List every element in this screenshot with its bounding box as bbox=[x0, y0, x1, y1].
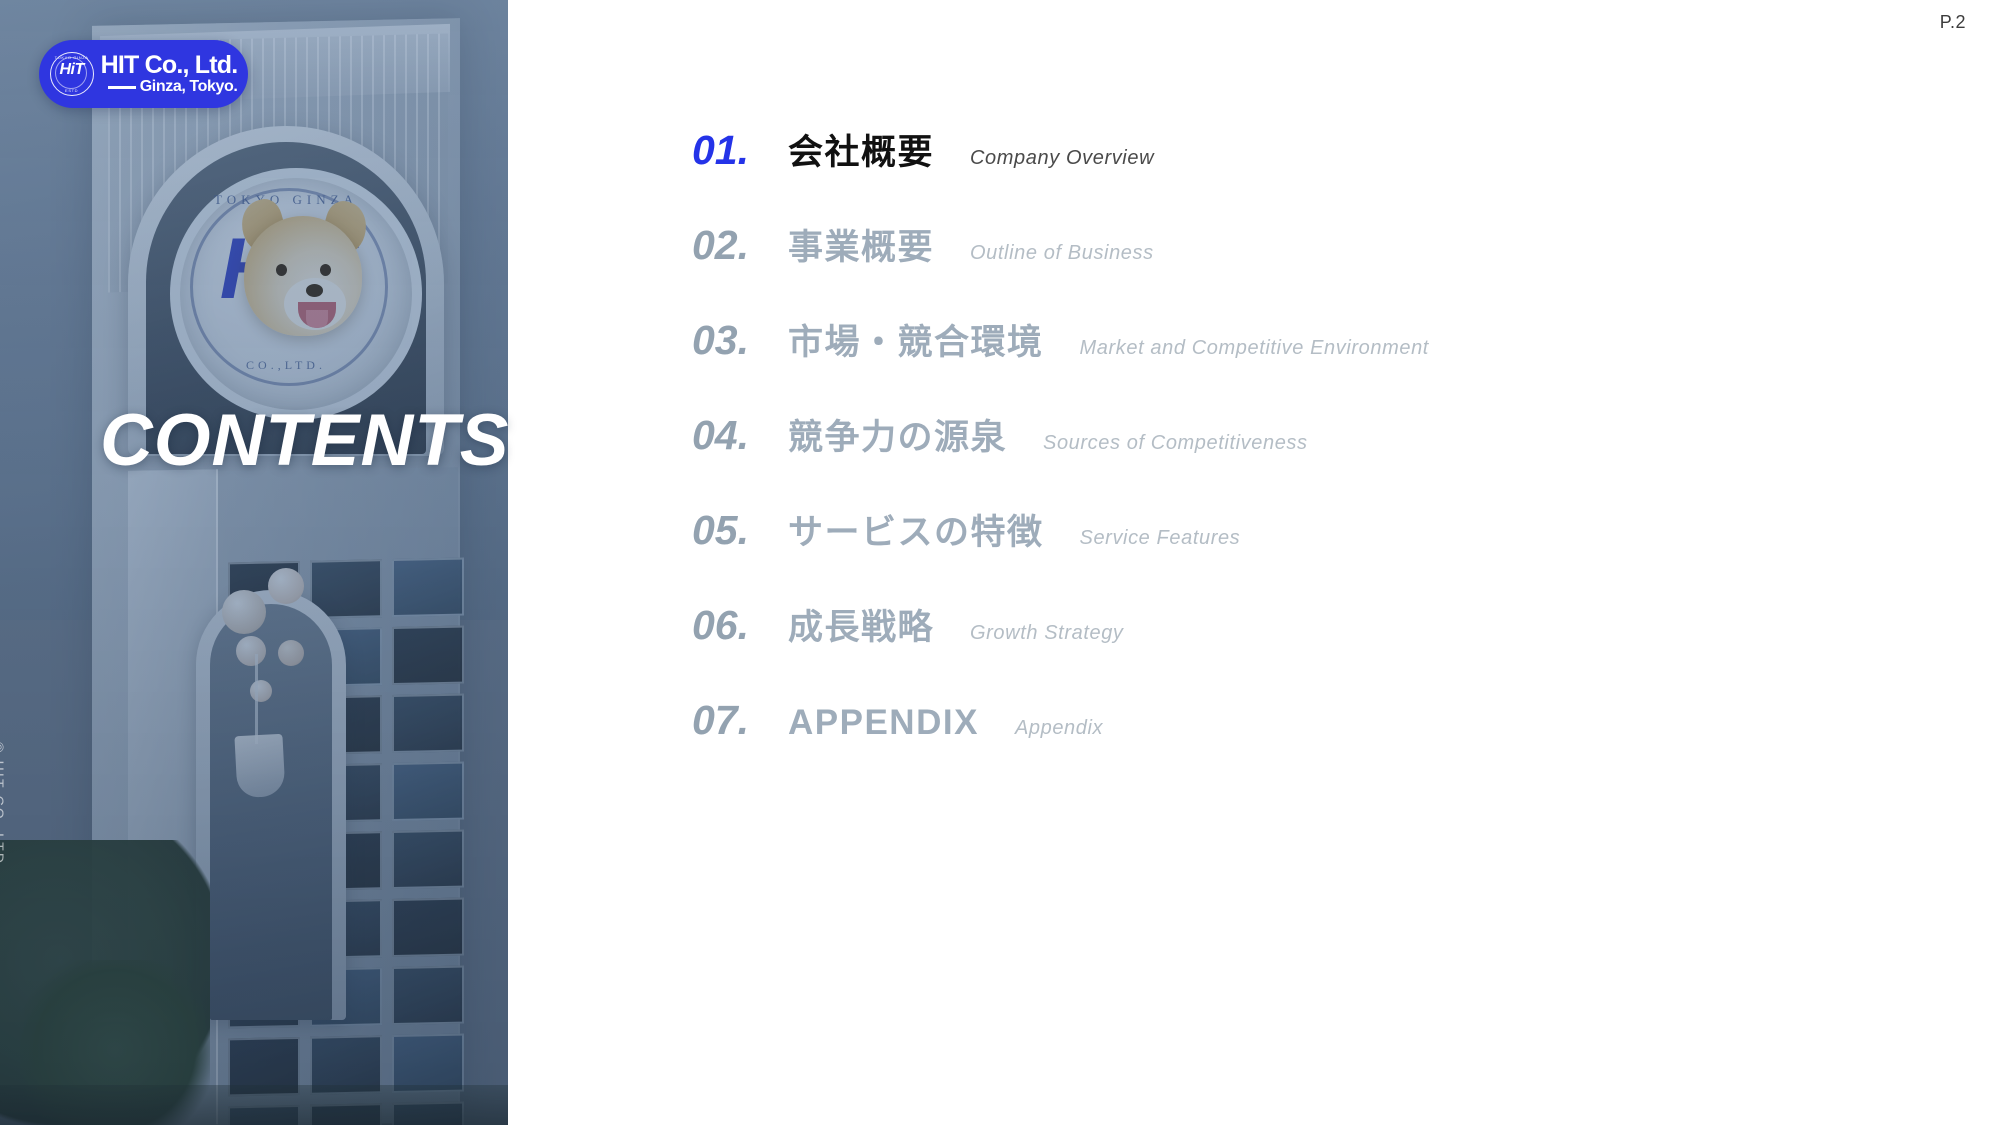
hero-photo-panel: TOKYO GINZA HiT CO.,LTD. bbox=[0, 0, 508, 1125]
toc-item-05[interactable]: 05. サービスの特徴 Service Features bbox=[692, 510, 1932, 605]
watermark-brand-name: HIT Co., Ltd. bbox=[1726, 1003, 1925, 1041]
toc-item-04[interactable]: 04. 競争力の源泉 Sources of Competitiveness bbox=[692, 415, 1932, 510]
toc-label-en: Outline of Business bbox=[970, 243, 1154, 263]
toc-label-en: Appendix bbox=[1015, 718, 1103, 738]
brand-tagline-row: Ginza, Tokyo. bbox=[101, 79, 238, 95]
watermark-tagline-row: Ginza, Tokyo. bbox=[1726, 1042, 1925, 1065]
toc-label-jp: APPENDIX bbox=[788, 705, 979, 740]
toc-item-07[interactable]: 07. APPENDIX Appendix bbox=[692, 700, 1932, 795]
toc-number: 03. bbox=[692, 320, 788, 361]
toc-label-jp: サービスの特徴 bbox=[788, 515, 1044, 550]
emblem-bottom-text: ESTD bbox=[51, 88, 93, 93]
toc-number: 02. bbox=[692, 225, 788, 266]
page-title: CONTENTS bbox=[100, 404, 510, 477]
toc-label-en: Sources of Competitiveness bbox=[1043, 433, 1308, 453]
watermark-tagline: Ginza, Tokyo. bbox=[1784, 1042, 1925, 1065]
toc-label-en: Market and Competitive Environment bbox=[1080, 338, 1429, 358]
emblem-initials: HiT bbox=[51, 62, 93, 78]
brand-name: HIT Co., Ltd. bbox=[101, 53, 238, 79]
toc-item-02[interactable]: 02. 事業概要 Outline of Business bbox=[692, 225, 1932, 320]
toc-item-03[interactable]: 03. 市場・競合環境 Market and Competitive Envir… bbox=[692, 320, 1932, 415]
toc-label-jp: 会社概要 bbox=[788, 135, 934, 170]
brand-rule-divider bbox=[108, 86, 136, 89]
brand-tagline: Ginza, Tokyo. bbox=[140, 79, 238, 95]
toc-number: 07. bbox=[692, 700, 788, 741]
toc-label-en: Service Features bbox=[1080, 528, 1241, 548]
toc-item-01[interactable]: 01. 会社概要 Company Overview bbox=[692, 130, 1932, 225]
watermark-emblem-icon: HiT bbox=[1648, 1000, 1716, 1068]
toc-label-jp: 成長戦略 bbox=[788, 610, 934, 645]
page-number: P.2 bbox=[1940, 12, 1966, 33]
brand-wordmark: HIT Co., Ltd. Ginza, Tokyo. bbox=[101, 53, 238, 96]
toc-number: 04. bbox=[692, 415, 788, 456]
toc-number: 01. bbox=[692, 130, 788, 171]
slide-contents: TOKYO GINZA HiT CO.,LTD. bbox=[0, 0, 2000, 1125]
toc-number: 05. bbox=[692, 510, 788, 551]
watermark-rule-divider bbox=[1734, 1052, 1778, 1056]
watermark-wordmark: HIT Co., Ltd. Ginza, Tokyo. bbox=[1726, 1003, 1925, 1066]
photo-tint-overlay-secondary bbox=[0, 0, 508, 1125]
toc-label-jp: 競争力の源泉 bbox=[788, 420, 1007, 455]
toc-item-06[interactable]: 06. 成長戦略 Growth Strategy bbox=[692, 605, 1932, 700]
brand-logo[interactable]: TOKYO GINZA HiT ESTD HIT Co., Ltd. Ginza… bbox=[39, 40, 248, 108]
toc-number: 06. bbox=[692, 605, 788, 646]
copyright-notice: © HIT CO.,LTD. bbox=[0, 742, 7, 871]
toc-label-jp: 市場・競合環境 bbox=[788, 325, 1044, 360]
toc-label-en: Company Overview bbox=[970, 148, 1154, 168]
toc-label-jp: 事業概要 bbox=[788, 230, 934, 265]
brand-emblem-icon: TOKYO GINZA HiT ESTD bbox=[50, 52, 94, 96]
emblem-top-text: TOKYO GINZA bbox=[51, 55, 93, 60]
table-of-contents: 01. 会社概要 Company Overview 02. 事業概要 Outli… bbox=[692, 130, 1932, 795]
watermark-emblem-initials: HiT bbox=[1650, 1018, 1714, 1040]
brand-watermark: HiT HIT Co., Ltd. Ginza, Tokyo. bbox=[1648, 995, 1948, 1073]
toc-label-en: Growth Strategy bbox=[970, 623, 1124, 643]
